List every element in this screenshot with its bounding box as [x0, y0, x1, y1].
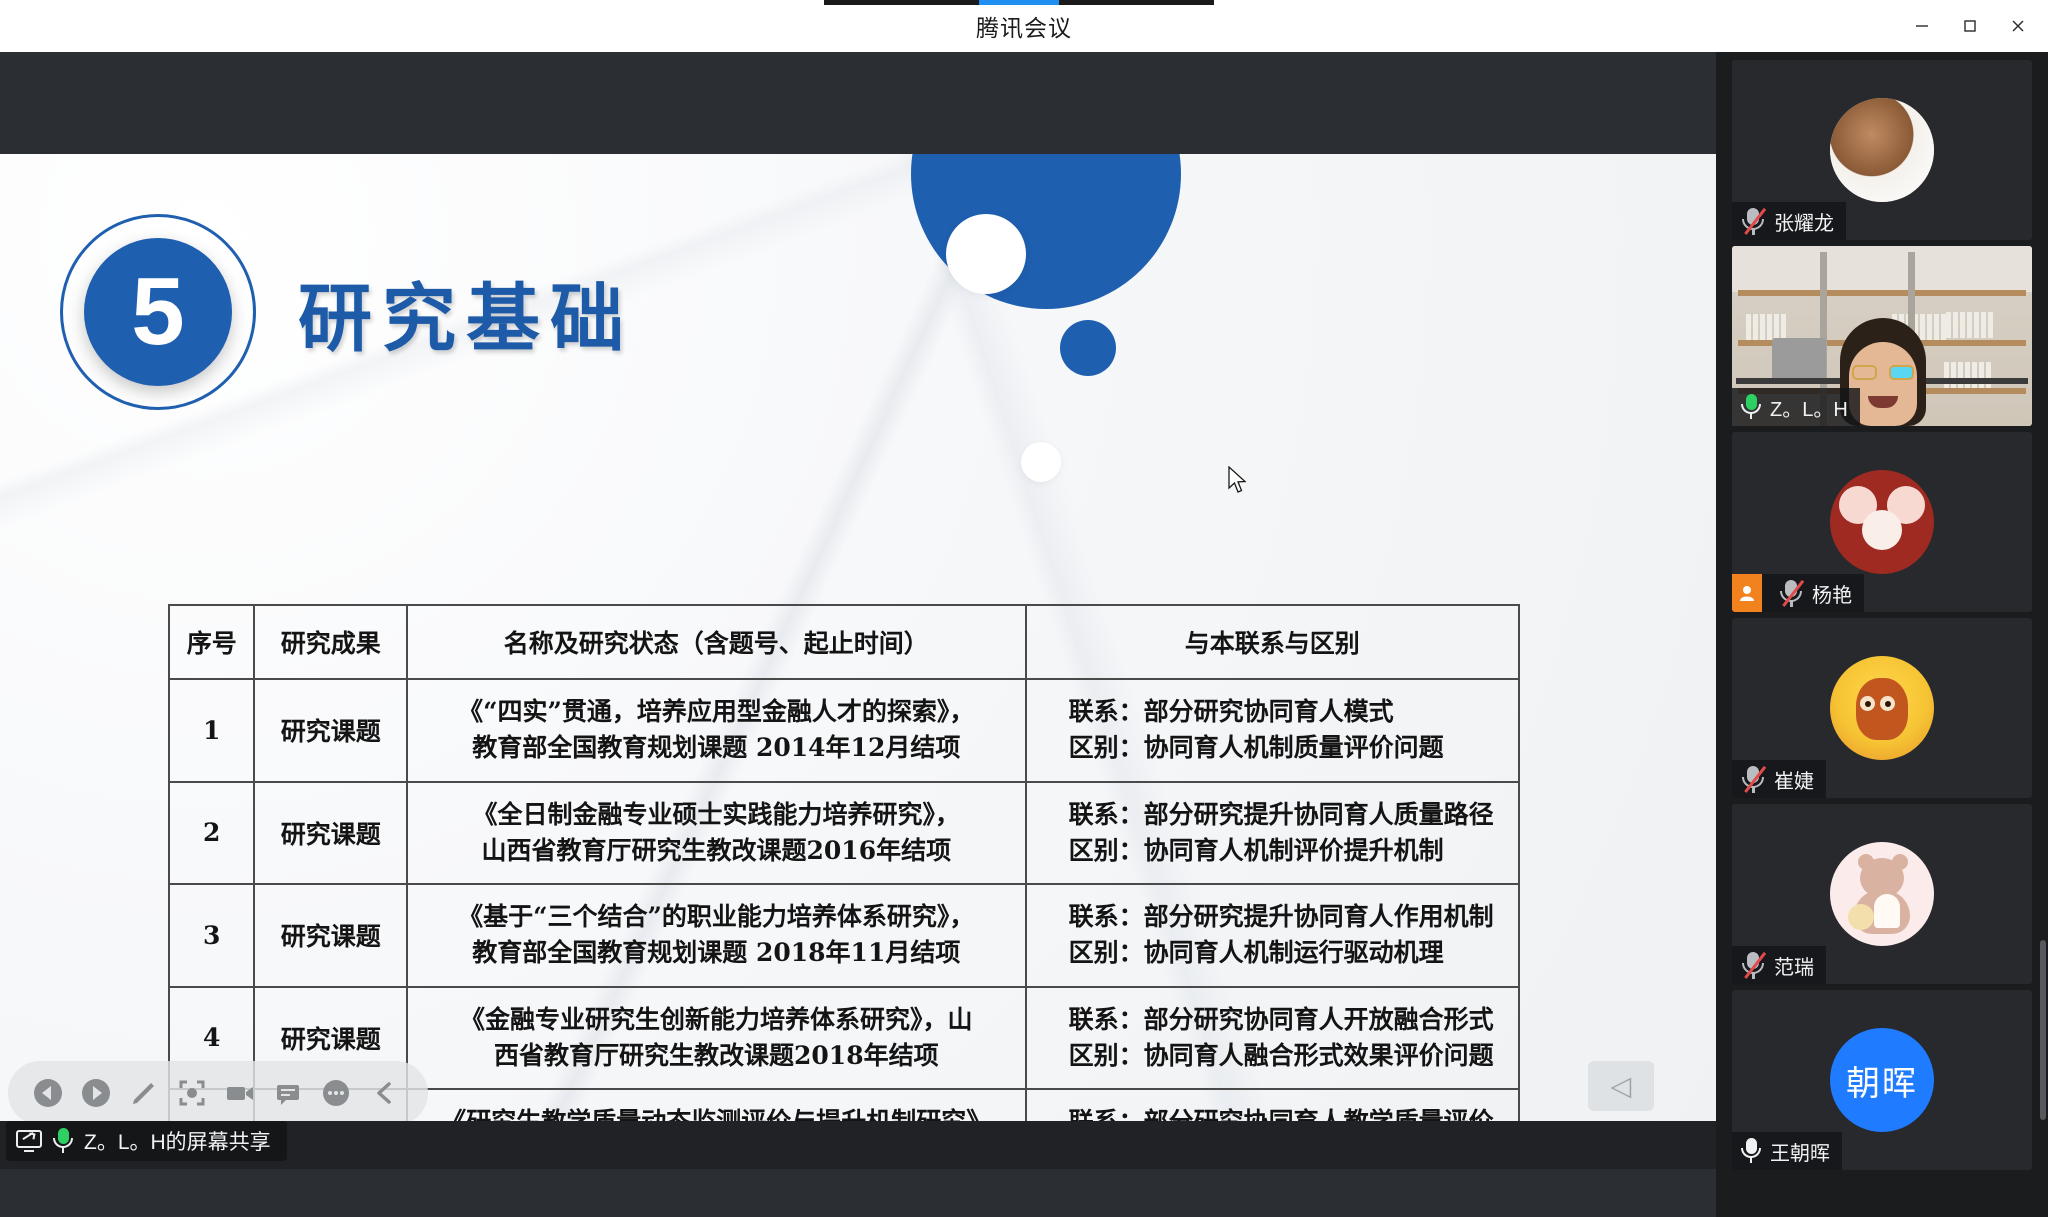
decor-circle-white-small: [1021, 442, 1061, 482]
cell-name: 《“四实”贯通，培养应用型金融人才的探索》， 教育部全国教育规划课题 2014年…: [407, 679, 1026, 782]
cell-relation: 联系：部分研究协同育人模式 区别：协同育人机制质量评价问题: [1026, 679, 1519, 782]
cell-result: 研究课题: [254, 884, 407, 987]
collapse-panel-button[interactable]: ◁: [1588, 1061, 1654, 1111]
decor-circle-blue-small: [1060, 320, 1116, 376]
cell-name: 《金融专业研究生创新能力培养体系研究》，山 西省教育厅研究生教改课题2018年结…: [407, 987, 1026, 1090]
participant-name-bar: 张耀龙: [1732, 202, 1846, 240]
cell-result: 研究课题: [254, 782, 407, 885]
tab-segment-right: [1059, 0, 1214, 5]
participant-tile[interactable]: 杨艳: [1732, 432, 2032, 612]
focus-frame-icon[interactable]: [168, 1069, 216, 1117]
scrollbar-thumb[interactable]: [2040, 940, 2046, 1120]
close-button[interactable]: [1994, 4, 2042, 48]
table-header-row: 序号 研究成果 名称及研究状态（含题号、起止时间） 与本联系与区别: [169, 605, 1519, 679]
mic-muted-icon: [1740, 206, 1766, 236]
slide-header: 5 研究基础: [60, 214, 634, 410]
participant-name: 王朝晖: [1770, 1137, 1830, 1166]
tencent-meeting-window: 腾讯会议 录制中 正在讲话: Z。L。: [0, 0, 2048, 1217]
participants-rail[interactable]: 张耀龙: [1716, 52, 2048, 1217]
screen-share-status-pill: Z。L。H的屏幕共享: [6, 1121, 287, 1161]
decor-circle-white-large: [946, 214, 1026, 294]
participant-name: 张耀龙: [1774, 207, 1834, 236]
screen-share-label: Z。L。H的屏幕共享: [84, 1126, 271, 1156]
pen-icon[interactable]: [120, 1069, 168, 1117]
cell-no: 2: [169, 782, 254, 885]
mic-icon: [1740, 1137, 1762, 1165]
chat-bubble-icon[interactable]: [264, 1069, 312, 1117]
table-row: 2 研究课题 《全日制金融专业硕士实践能力培养研究》， 山西省教育厅研究生教改课…: [169, 782, 1519, 885]
slide-title: 研究基础: [298, 259, 634, 366]
next-icon[interactable]: [72, 1069, 120, 1117]
tab-segment-active[interactable]: [979, 0, 1059, 5]
window-controls: [1898, 0, 2042, 52]
participant-name: 崔婕: [1774, 765, 1814, 794]
cell-no: 1: [169, 679, 254, 782]
bottom-status-bar: Z。L。H的屏幕共享: [0, 1121, 1716, 1169]
maximize-button[interactable]: [1946, 4, 1994, 48]
participant-name-bar: 范瑞: [1732, 946, 1826, 984]
avatar-bear-icon: [1830, 842, 1934, 946]
presentation-slide: 5 研究基础 序号 研究成果 名称及研究状态（含题号、起止时间） 与本联系与区别: [0, 154, 1716, 1167]
column-header-no: 序号: [169, 605, 254, 679]
slide-number-badge: 5: [60, 214, 256, 410]
avatar-photo-icon: [1830, 98, 1934, 202]
ellipsis-icon[interactable]: [312, 1069, 360, 1117]
cell-relation: 联系：部分研究提升协同育人作用机制 区别：协同育人机制运行驱动机理: [1026, 884, 1519, 987]
cell-name: 《基于“三个结合”的职业能力培养体系研究》， 教育部全国教育规划课题 2018年…: [407, 884, 1026, 987]
slide-number: 5: [131, 264, 184, 360]
column-header-relation: 与本联系与区别: [1026, 605, 1519, 679]
participant-tile[interactable]: 张耀龙: [1732, 60, 2032, 240]
participant-tile[interactable]: Z。L。H: [1732, 246, 2032, 426]
avatar-mouse-icon: [1830, 470, 1934, 574]
mic-muted-icon: [1778, 578, 1804, 608]
mic-muted-icon: [1740, 950, 1766, 980]
participant-name: 范瑞: [1774, 951, 1814, 980]
cell-name: 《全日制金融专业硕士实践能力培养研究》， 山西省教育厅研究生教改课题2016年结…: [407, 782, 1026, 885]
prev-icon[interactable]: [24, 1069, 72, 1117]
participant-tile[interactable]: 范瑞: [1732, 804, 2032, 984]
cell-no: 3: [169, 884, 254, 987]
tab-segment-left: [824, 0, 979, 5]
window-tab-strip: [824, 0, 1214, 5]
table-row: 3 研究课题 《基于“三个结合”的职业能力培养体系研究》， 教育部全国教育规划课…: [169, 884, 1519, 987]
mic-active-icon: [52, 1127, 74, 1155]
participant-tile[interactable]: 朝晖 王朝晖: [1732, 990, 2032, 1170]
mic-active-icon: [1740, 393, 1762, 421]
chevron-left-icon[interactable]: [360, 1069, 408, 1117]
host-badge-icon: [1732, 574, 1762, 612]
shared-screen-region[interactable]: 5 研究基础 序号 研究成果 名称及研究状态（含题号、起止时间） 与本联系与区别: [0, 154, 1716, 1167]
column-header-result: 研究成果: [254, 605, 407, 679]
screen-share-icon: [16, 1130, 42, 1152]
participant-name: Z。L。H: [1770, 393, 1848, 422]
cell-relation: 联系：部分研究提升协同育人质量路径 区别：协同育人机制评价提升机制: [1026, 782, 1519, 885]
participant-tile[interactable]: 崔婕: [1732, 618, 2032, 798]
table-row: 1 研究课题 《“四实”贯通，培养应用型金融人才的探索》， 教育部全国教育规划课…: [169, 679, 1519, 782]
participant-name: 杨艳: [1812, 579, 1852, 608]
mic-muted-icon: [1740, 764, 1766, 794]
participants-scrollbar[interactable]: [2040, 60, 2046, 1150]
window-title: 腾讯会议: [976, 9, 1072, 43]
video-camera-icon[interactable]: [216, 1069, 264, 1117]
participant-name-bar: Z。L。H: [1732, 388, 1860, 426]
cell-result: 研究课题: [254, 679, 407, 782]
avatar-initials: 朝晖: [1830, 1028, 1934, 1132]
participant-name-bar: 杨艳: [1732, 574, 1864, 612]
participant-name-bar: 崔婕: [1732, 760, 1826, 798]
cell-relation: 联系：部分研究协同育人开放融合形式 区别：协同育人融合形式效果评价问题: [1026, 987, 1519, 1090]
avatar-owl-icon: [1830, 656, 1934, 760]
minimize-button[interactable]: [1898, 4, 1946, 48]
presenter-toolbar[interactable]: [8, 1061, 428, 1125]
participant-name-bar: 王朝晖: [1732, 1132, 1842, 1170]
window-title-bar: 腾讯会议: [0, 0, 2048, 52]
column-header-name: 名称及研究状态（含题号、起止时间）: [407, 605, 1026, 679]
